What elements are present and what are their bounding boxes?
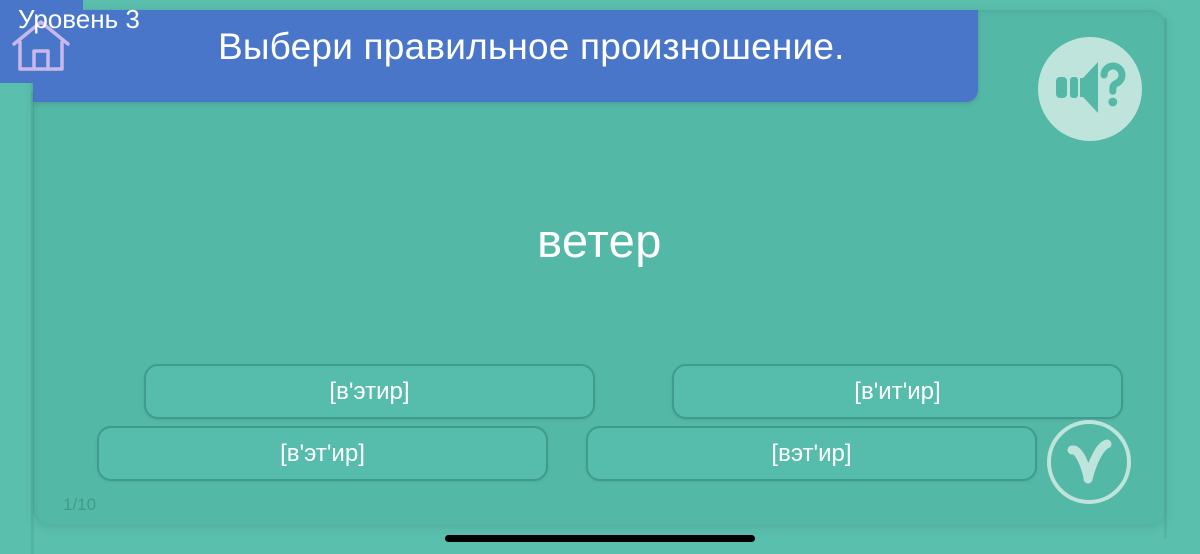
sound-hint-button[interactable] (1038, 37, 1142, 141)
answer-option-2[interactable]: [в'ит'ир] (672, 364, 1123, 419)
content-card: Выбери правильное произношение. ветер [в… (33, 10, 1166, 525)
check-circle-icon (1043, 416, 1135, 513)
answer-option-3[interactable]: [в'эт'ир] (97, 426, 548, 481)
answer-option-label: [вэт'ир] (771, 440, 851, 468)
progress-counter: 1/10 (63, 495, 96, 515)
app-root: Выбери правильное произношение. ветер [в… (0, 0, 1200, 554)
answer-option-label: [в'ит'ир] (854, 378, 940, 406)
answer-option-label: [в'этир] (329, 378, 409, 406)
home-indicator[interactable] (445, 535, 755, 542)
confirm-button[interactable] (1040, 415, 1138, 513)
answer-option-4[interactable]: [вэт'ир] (586, 426, 1037, 481)
speaker-question-icon (1054, 58, 1126, 121)
answer-option-1[interactable]: [в'этир] (144, 364, 595, 419)
page-title: Выбери правильное произношение. (218, 26, 845, 68)
header-bar: Выбери правильное произношение. (33, 10, 978, 102)
level-label: Уровень 3 (18, 4, 140, 35)
prompt-word: ветер (33, 213, 1166, 268)
answer-option-label: [в'эт'ир] (280, 440, 365, 468)
